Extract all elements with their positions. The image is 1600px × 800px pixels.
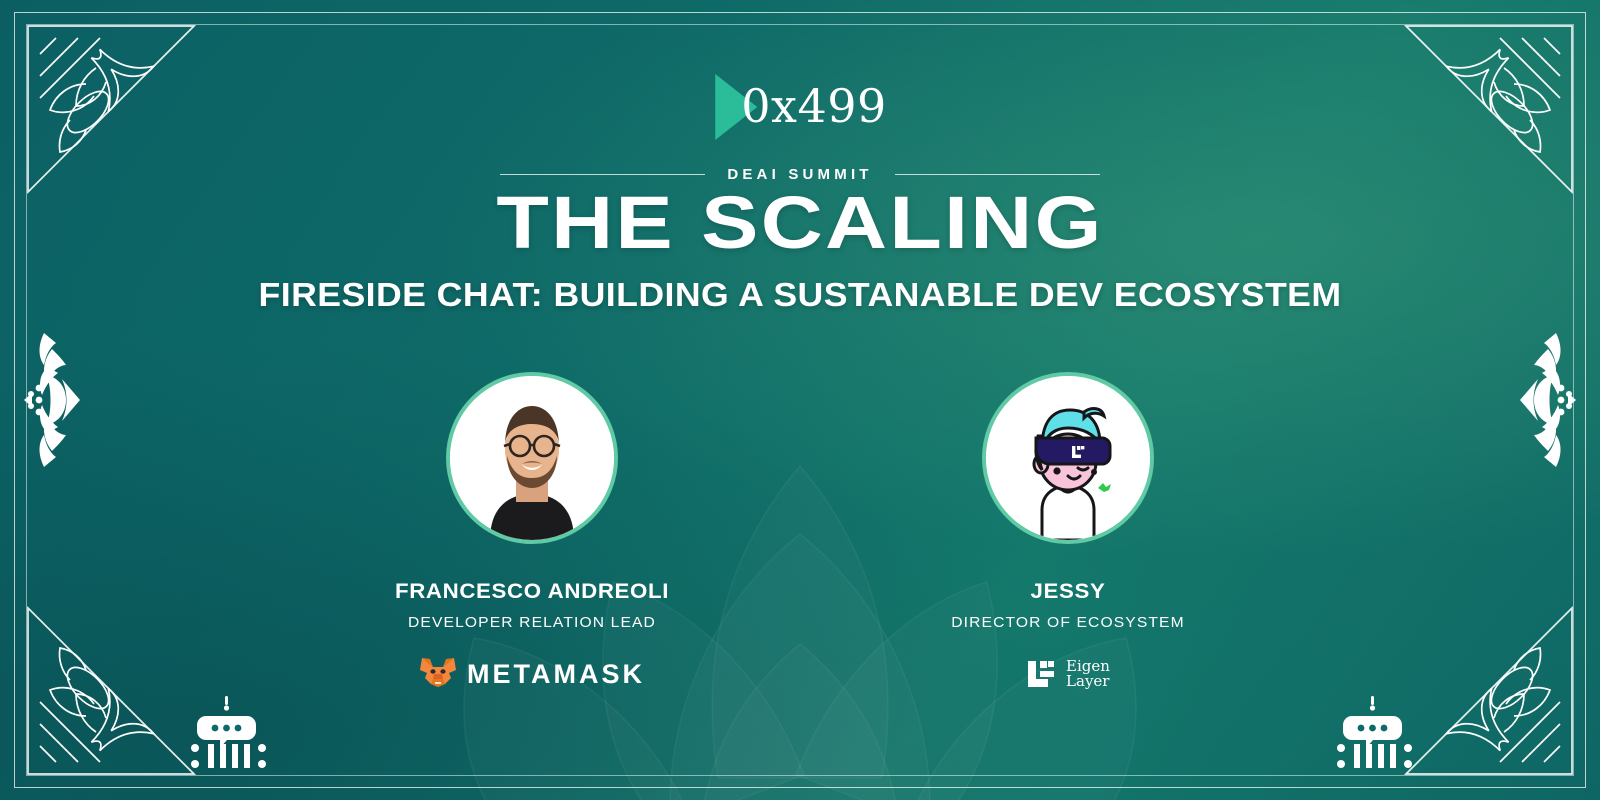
session-subtitle: FIRESIDE CHAT: BUILDING A SUSTANABLE DEV… [0,276,1600,314]
kicker-rule-left [500,174,705,175]
speaker-card: FRANCESCO ANDREOLI DEVELOPER RELATION LE… [372,372,692,695]
speaker-name: FRANCESCO ANDREOLI [362,580,701,604]
speaker-avatar-illustration [986,376,1150,540]
speaker-role: DIRECTOR OF ECOSYSTEM [902,614,1235,631]
company-logo: Eigen Layer [908,653,1228,695]
avatar [982,372,1154,544]
speaker-photo [450,376,614,540]
kicker-rule-right [895,174,1100,175]
event-logo: 0x499 [713,66,887,146]
company-name: Eigen Layer [1066,659,1110,688]
speaker-role: DEVELOPER RELATION LEAD [366,614,699,631]
metamask-fox-icon [419,656,457,692]
lotus-corner-ornament [1404,24,1574,194]
avatar [446,372,618,544]
company-logo: METAMASK [372,653,692,695]
lotus-corner-ornament [1404,606,1574,776]
company-name-bottom: Layer [1066,672,1109,690]
speaker-card: JESSY DIRECTOR OF ECOSYSTEM Eigen Layer [908,372,1228,695]
presentation-slide: 0x499 DEAI SUMMIT THE SCALING FIRESIDE C… [0,0,1600,800]
page-title: THE SCALING [0,186,1600,260]
eigenlayer-l-icon [1026,659,1056,689]
company-name: METAMASK [467,659,645,690]
temple-stupa-icon [1330,694,1416,770]
logo-text: 0x499 [713,83,887,129]
thai-kranok-ornament [18,315,82,485]
temple-stupa-icon [184,694,270,770]
speakers-row: FRANCESCO ANDREOLI DEVELOPER RELATION LE… [372,372,1228,695]
lotus-corner-ornament [26,24,196,194]
lotus-corner-ornament [26,606,196,776]
thai-kranok-ornament [1518,315,1582,485]
speaker-name: JESSY [898,580,1237,604]
